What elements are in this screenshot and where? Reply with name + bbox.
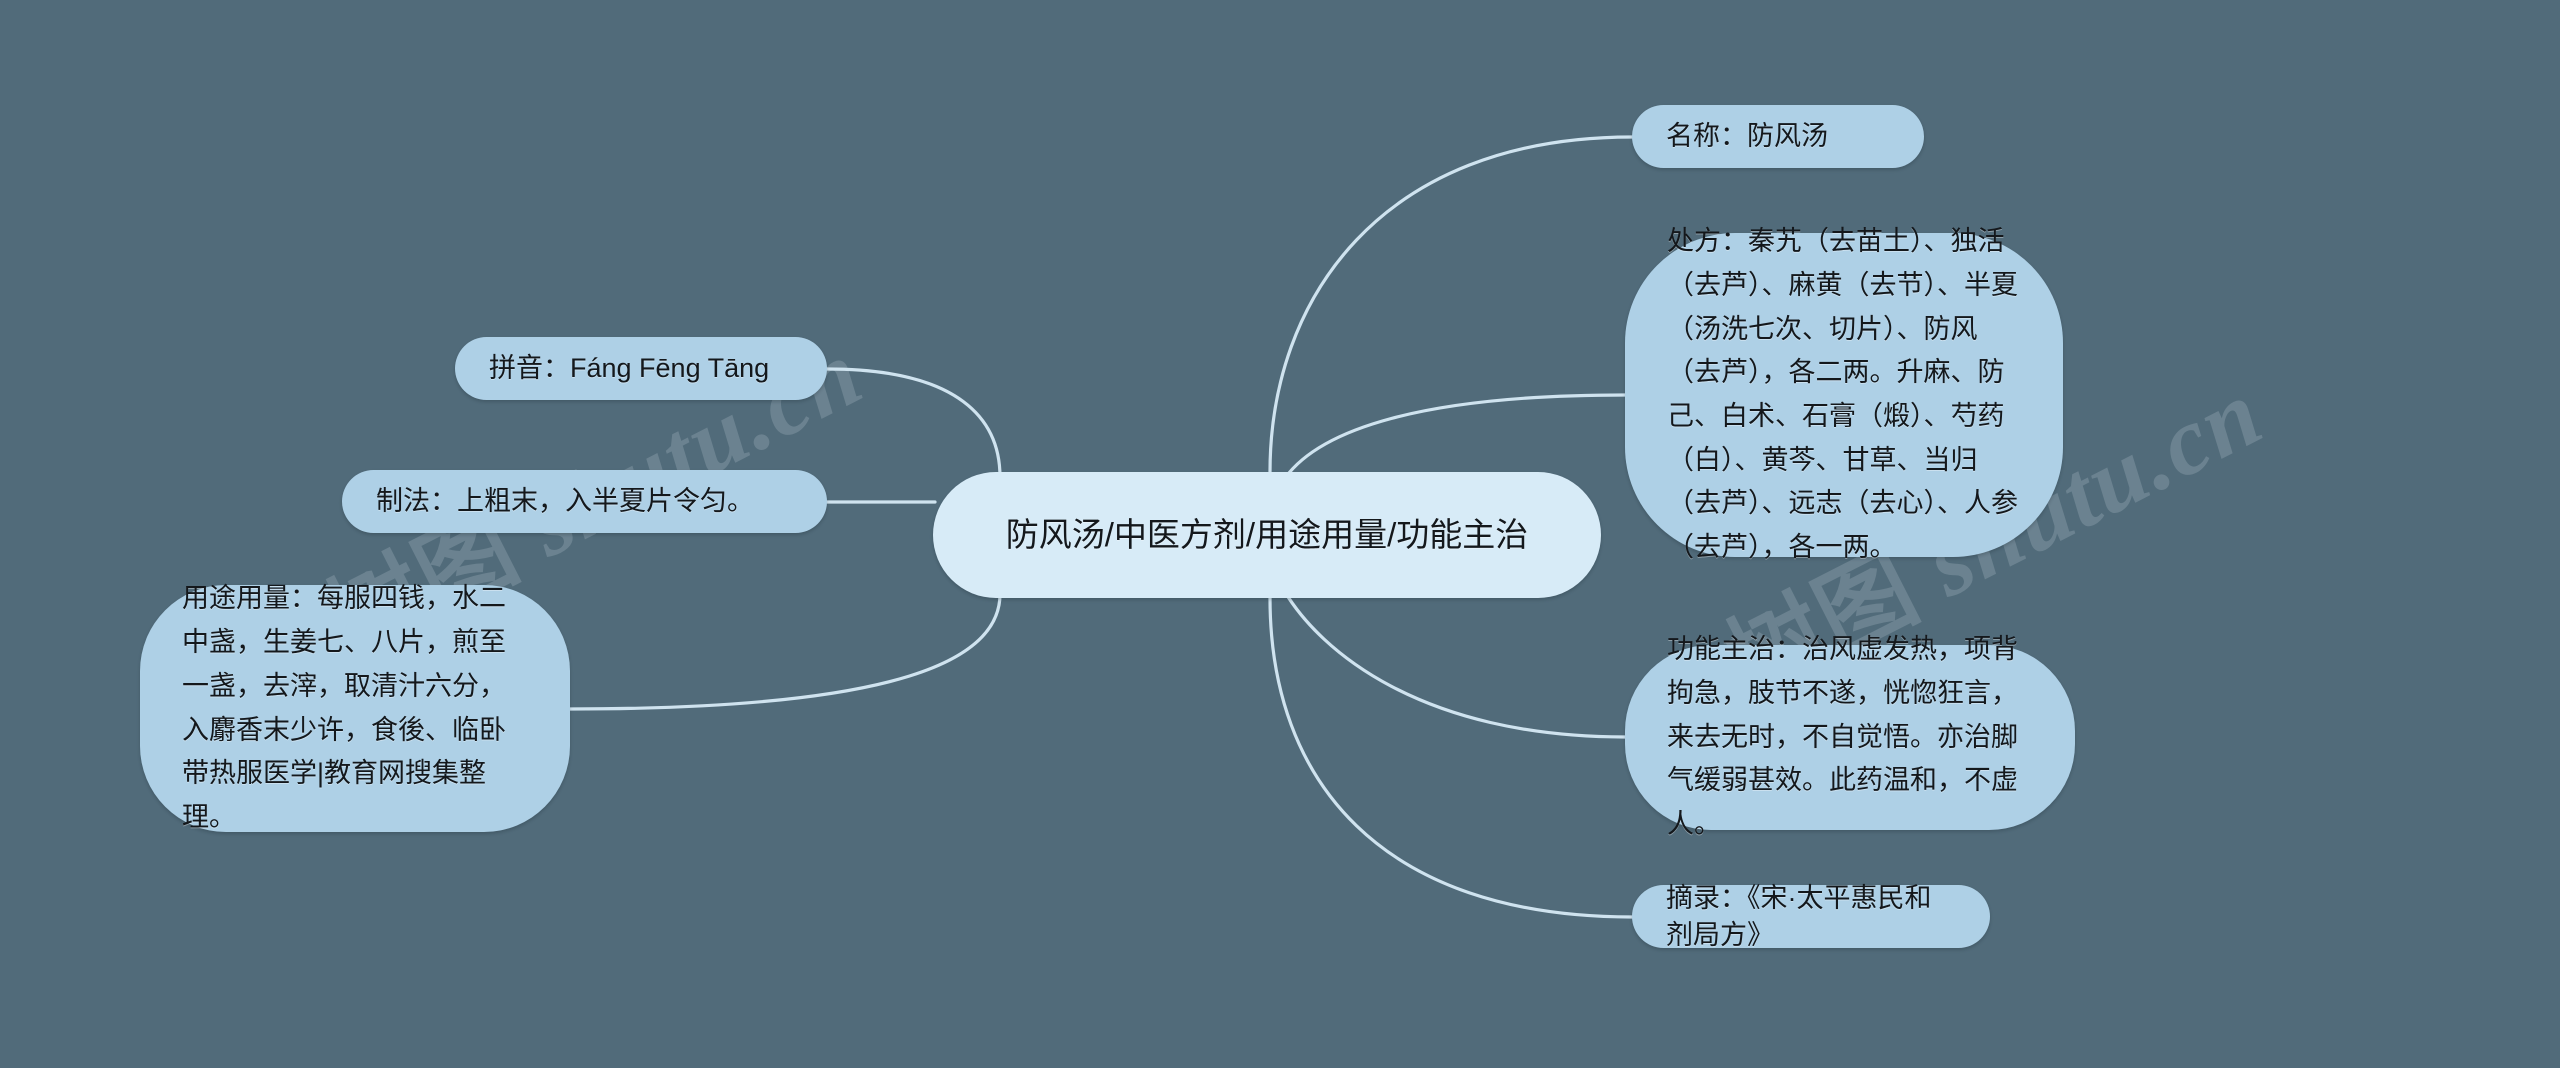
node-pinyin-label: 拼音：Fáng Fēng Tāng	[489, 350, 793, 386]
node-zhailu[interactable]: 摘录：《宋·太平惠民和剂局方》	[1632, 885, 1990, 948]
edge-center-to-pinyin	[827, 369, 1000, 477]
edge-center-to-gongneng	[1285, 592, 1625, 737]
node-zhailu-label: 摘录：《宋·太平惠民和剂局方》	[1666, 880, 1956, 953]
node-gongneng-label: 功能主治：治风虚发热，项背拘急，肢节不遂，恍惚狂言，来去无时，不自觉悟。亦治脚气…	[1667, 628, 2033, 847]
mindmap-canvas: 树图 shutu.cn 树图 shutu.cn 防风汤/中医方剂/用途用量/功能…	[0, 0, 2560, 1068]
edge-center-to-yongtu	[570, 594, 1000, 709]
node-yongtu[interactable]: 用途用量：每服四钱，水二中盏，生姜七、八片，煎至一盏，去滓，取清汁六分，入麝香末…	[140, 585, 570, 832]
node-center-label: 防风汤/中医方剂/用途用量/功能主治	[973, 511, 1561, 559]
node-chufang[interactable]: 处方：秦艽（去苗土）、独活（去芦）、麻黄（去节）、半夏（汤洗七次、切片）、防风（…	[1625, 233, 2063, 557]
edge-center-to-name	[1270, 137, 1632, 472]
edge-center-to-zhailu	[1270, 598, 1632, 917]
edge-center-to-chufang	[1285, 395, 1625, 478]
node-gongneng[interactable]: 功能主治：治风虚发热，项背拘急，肢节不遂，恍惚狂言，来去无时，不自觉悟。亦治脚气…	[1625, 645, 2075, 830]
node-zhifa[interactable]: 制法：上粗末，入半夏片令匀。	[342, 470, 827, 533]
node-name-label: 名称：防风汤	[1666, 118, 1890, 154]
node-chufang-label: 处方：秦艽（去苗土）、独活（去芦）、麻黄（去节）、半夏（汤洗七次、切片）、防风（…	[1667, 220, 2021, 570]
node-zhifa-label: 制法：上粗末，入半夏片令匀。	[376, 483, 793, 519]
node-name[interactable]: 名称：防风汤	[1632, 105, 1924, 168]
node-pinyin[interactable]: 拼音：Fáng Fēng Tāng	[455, 337, 827, 400]
node-center[interactable]: 防风汤/中医方剂/用途用量/功能主治	[933, 472, 1601, 598]
node-yongtu-label: 用途用量：每服四钱，水二中盏，生姜七、八片，煎至一盏，去滓，取清汁六分，入麝香末…	[182, 577, 528, 839]
